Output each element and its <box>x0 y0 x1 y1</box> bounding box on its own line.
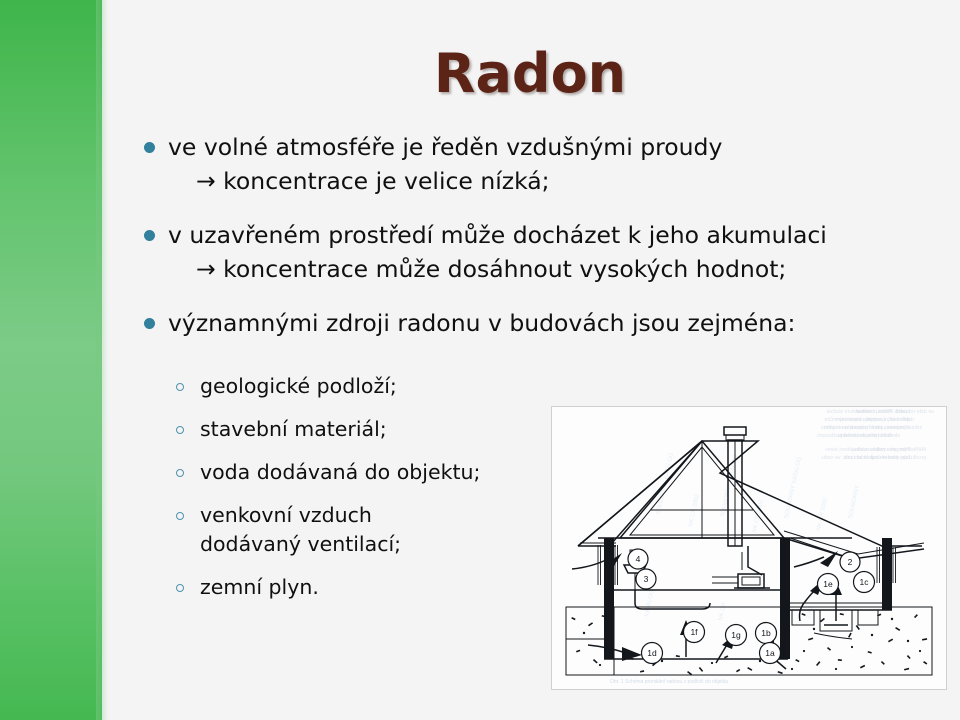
accent-sidebar-fade <box>96 0 108 720</box>
list-item: voda dodávaná do objektu; <box>168 458 588 487</box>
figure-caption: Obr. 1 Schéma pronikání radonu z podloží… <box>610 679 728 685</box>
hollow-bullet-icon <box>176 512 184 520</box>
callout-label: 1b <box>761 628 771 638</box>
hollow-bullet-icon <box>176 383 184 391</box>
sub-bullet-list: geologické podloží; stavební materiál; v… <box>168 372 588 616</box>
callout-label: 4 <box>636 554 641 564</box>
list-item: ve volné atmosféře je ředěn vzdušnými pr… <box>132 130 932 198</box>
ghost-text: faby jsou vědouk kolem nás, ve vzdu- <box>820 455 910 461</box>
callout-label: 1e <box>823 579 833 589</box>
callout-label: 1f <box>690 627 698 637</box>
bullet-text: ve volné atmosféře je ředěn vzdušnými pr… <box>168 130 932 164</box>
sub-bullet-text: stavební materiál; <box>200 415 588 444</box>
list-item: významnými zdroji radonu v budovách jsou… <box>132 306 932 340</box>
slide-canvas: Radon ve volné atmosféře je ředěn vzdušn… <box>0 0 960 720</box>
bullet-dot-icon <box>144 230 155 241</box>
bullet-subtext: → koncentrace může dosáhnout vysokých ho… <box>168 252 932 286</box>
callout-label: 3 <box>644 574 649 584</box>
ghost-text: dobu nuční soyvaly, která nás může <box>824 416 910 423</box>
ghost-text: celkol přín do kontaktu. <box>837 433 892 439</box>
bullet-text: významnými zdroji radonu v budovách jsou… <box>168 306 932 340</box>
list-item: v uzavřeném prostředí může docházet k je… <box>132 218 932 286</box>
hollow-bullet-icon <box>176 584 184 592</box>
list-item: zemní plyn. <box>168 573 588 602</box>
sub-bullet-text-wrap: dodávaný ventilací; <box>200 530 588 559</box>
bullet-subtext: → koncentrace je velice nízká; <box>168 164 932 198</box>
ghost-text: ohrozovat, smrti hydrometrie ni přímo <box>821 425 910 431</box>
hollow-bullet-icon <box>176 426 184 434</box>
accent-sidebar-bar <box>0 0 102 720</box>
list-item: geologické podloží; <box>168 372 588 401</box>
sub-bullet-text: geologické podloží; <box>200 372 588 401</box>
page-title: Radon <box>130 46 930 103</box>
hollow-bullet-icon <box>176 469 184 477</box>
ghost-text: Principle vzniklou radioaktivní nieto- <box>824 447 910 453</box>
callout-label: 1g <box>731 630 741 640</box>
sub-bullet-text: zemní plyn. <box>200 573 588 602</box>
list-item: stavební materiál; <box>168 415 588 444</box>
callout-label: 1c <box>860 577 870 587</box>
ghost-text: Ludvík hlavní o radioaktivní slučivá <box>827 409 910 415</box>
sub-bullet-text: voda dodávaná do objektu; <box>200 458 588 487</box>
callout-label: 2 <box>848 557 853 567</box>
callout-label: 1d <box>647 648 657 658</box>
sub-bullet-text: venkovní vzduch <box>200 501 588 530</box>
house-cross-section-image: se dále rozpadá. Příčinu bombar- daplit … <box>551 406 947 690</box>
bullet-text: v uzavřeném prostředí může docházet k je… <box>168 218 932 252</box>
bullet-dot-icon <box>144 318 155 329</box>
bullet-dot-icon <box>144 142 155 153</box>
bullet-list: ve volné atmosféře je ředěn vzdušnými pr… <box>132 130 932 360</box>
callout-label: 1a <box>765 648 775 658</box>
list-item: venkovní vzduch dodávaný ventilací; <box>168 501 588 559</box>
